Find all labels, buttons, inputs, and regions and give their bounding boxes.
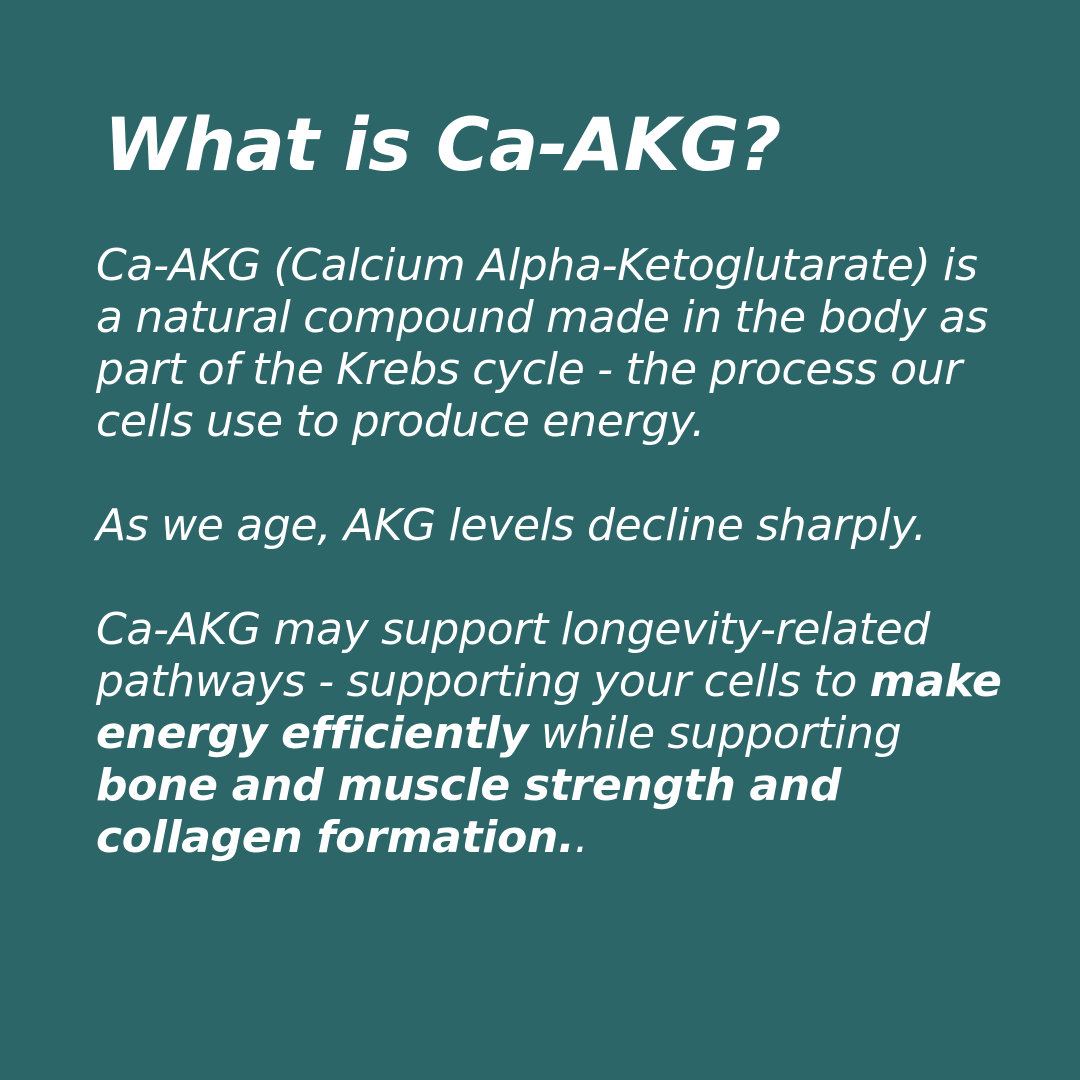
text-run-regular-2: while supporting <box>528 708 901 759</box>
paragraph-definition: Ca-AKG (Calcium Alpha-Ketoglutarate) is … <box>96 240 1012 448</box>
body-copy: Ca-AKG (Calcium Alpha-Ketoglutarate) is … <box>96 240 1012 864</box>
info-card: What is Ca-AKG? Ca-AKG (Calcium Alpha-Ke… <box>0 0 1080 1080</box>
text-run-regular-4: . <box>574 812 588 863</box>
text-run-regular-0: As we age, AKG levels decline sharply. <box>96 500 926 551</box>
text-run-regular-0: Ca-AKG may support longevity-related pat… <box>96 604 930 707</box>
page-title: What is Ca-AKG? <box>104 104 1004 188</box>
text-run-bold-3: bone and muscle strength and collagen fo… <box>96 760 841 863</box>
paragraph-age-decline: As we age, AKG levels decline sharply. <box>96 500 1012 552</box>
text-run-regular-0: Ca-AKG (Calcium Alpha-Ketoglutarate) is … <box>96 240 988 447</box>
paragraph-benefits: Ca-AKG may support longevity-related pat… <box>96 604 1012 864</box>
